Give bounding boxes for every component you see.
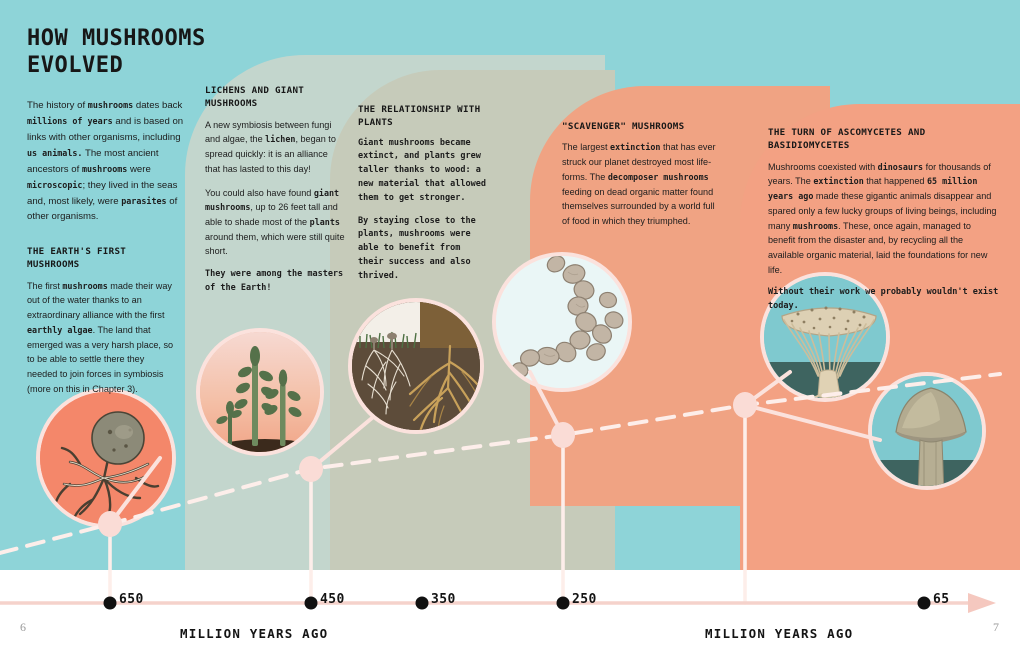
timeline-caption-right: MILLION YEARS AGO: [705, 626, 853, 641]
timeline: 650 450 350 250 65 MILLION YEARS AGO MIL…: [0, 570, 1020, 651]
spread-page: HOW MUSHROOMS EVOLVED The history of mus…: [0, 0, 1020, 651]
lichens-paragraph-2: You could also have found giant mushroom…: [205, 186, 345, 260]
earth-first-heading: THE EARTH'S FIRST MUSHROOMS: [27, 245, 177, 272]
timeline-label-350: 350: [431, 592, 456, 607]
lichens-heading: LICHENS AND GIANT MUSHROOMS: [205, 84, 345, 111]
plants-paragraph-2: By staying close to the plants, mushroom…: [358, 215, 490, 284]
lichens-paragraph-3: They were among the masters of the Earth…: [205, 268, 345, 296]
plants-paragraph-1: Giant mushrooms became extinct, and plan…: [358, 137, 490, 206]
scavenger-paragraph: The largest extinction that has ever str…: [562, 140, 722, 228]
scavenger-heading: "SCAVENGER" MUSHROOMS: [562, 120, 722, 133]
lichens-block: LICHENS AND GIANT MUSHROOMS A new symbio…: [205, 84, 345, 305]
timeline-label-65: 65: [933, 592, 949, 607]
turn-heading: THE TURN OF ASCOMYCETES AND BASIDIOMYCET…: [768, 126, 1000, 153]
lichens-paragraph-1: A new symbiosis between fungi and algae,…: [205, 118, 345, 177]
page-title-line-2: EVOLVED: [27, 53, 257, 80]
timeline-label-650: 650: [119, 592, 144, 607]
plants-heading: THE RELATIONSHIP WITH PLANTS: [358, 103, 490, 130]
plants-block: THE RELATIONSHIP WITH PLANTS Giant mushr…: [358, 103, 490, 292]
turn-paragraph-2: Without their work we probably wouldn't …: [768, 286, 1000, 314]
page-title: HOW MUSHROOMS EVOLVED: [27, 26, 257, 80]
timeline-caption-left: MILLION YEARS AGO: [180, 626, 328, 641]
illustration-cap-mushroom: [868, 372, 986, 490]
illustration-decomposer-cells: [492, 252, 632, 392]
timeline-label-250: 250: [572, 592, 597, 607]
earth-first-paragraph: The first mushrooms made their way out o…: [27, 279, 177, 397]
page-title-line-1: HOW MUSHROOMS: [27, 26, 257, 53]
timeline-label-450: 450: [320, 592, 345, 607]
intro-block: The history of mushrooms dates back mill…: [27, 98, 189, 234]
folio-left: 6: [20, 620, 26, 635]
folio-right: 7: [993, 620, 999, 635]
illustration-soil-cross-section: [348, 298, 484, 434]
turn-paragraph-1: Mushrooms coexisted with dinosaurs for t…: [768, 160, 1000, 278]
scavenger-block: "SCAVENGER" MUSHROOMS The largest extinc…: [562, 120, 722, 238]
illustration-microscopic-fungus-with-hyphae: [36, 388, 176, 528]
turn-block: THE TURN OF ASCOMYCETES AND BASIDIOMYCET…: [768, 126, 1000, 323]
earth-first-block: THE EARTH'S FIRST MUSHROOMS The first mu…: [27, 245, 177, 405]
illustration-early-land-plants: [196, 328, 324, 456]
intro-paragraph: The history of mushrooms dates back mill…: [27, 98, 189, 225]
